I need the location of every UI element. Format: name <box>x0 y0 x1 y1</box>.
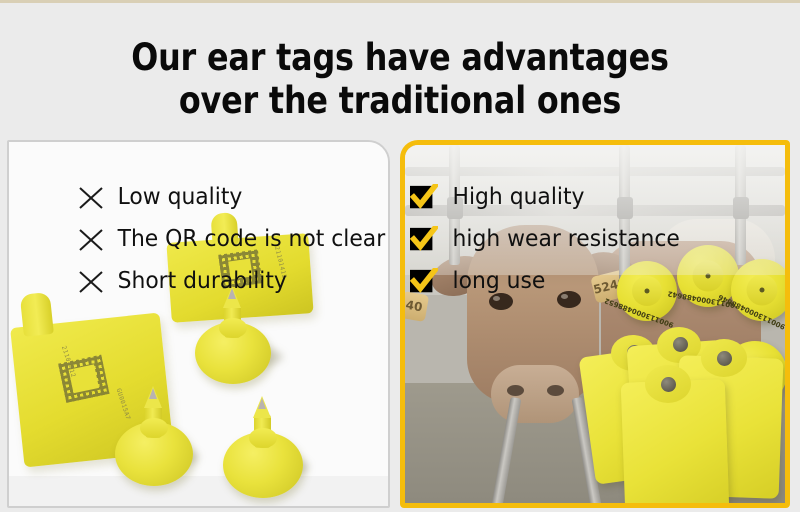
flap-stud-2 <box>673 337 688 352</box>
check-icon <box>410 184 438 212</box>
cow-muzzle <box>491 365 579 423</box>
page-title-line-1: Our ear tags have advantages <box>56 36 744 79</box>
tag-spike <box>144 386 162 408</box>
flap-stud-4 <box>661 377 676 392</box>
feature-label: Short durability <box>110 268 287 294</box>
check-icon <box>410 268 438 296</box>
our-tags-feature-list: High quality high wear resistance long u… <box>410 176 692 302</box>
cross-icon <box>78 227 104 253</box>
check-mark-wrap <box>410 182 444 212</box>
page-title: Our ear tags have advantages over the tr… <box>56 36 744 122</box>
tag-neck <box>20 292 54 337</box>
feature-label: long use <box>444 268 545 294</box>
tag-spike <box>253 396 271 418</box>
check-mark-wrap <box>410 224 444 254</box>
tag-hub <box>249 428 277 448</box>
cross-mark-wrap <box>76 266 110 296</box>
page-title-line-2: over the traditional ones <box>56 79 744 122</box>
check-mark-wrap <box>410 266 444 296</box>
cow-nostril-left <box>507 385 524 396</box>
feature-label: The QR code is not clear <box>110 226 385 252</box>
tag-hub <box>219 318 247 338</box>
feature-label: high wear resistance <box>444 226 680 252</box>
cross-mark-wrap <box>76 224 110 254</box>
top-divider-rule <box>0 0 800 3</box>
tag-hub <box>140 418 168 438</box>
photo-floor <box>9 476 388 506</box>
feature-item-long-use: long use <box>410 260 692 302</box>
feature-item-high-quality: High quality <box>410 176 692 218</box>
traditional-feature-list: Low quality The QR code is not clear Sho… <box>76 176 400 302</box>
promo-banner: Our ear tags have advantages over the tr… <box>0 0 800 526</box>
feature-label: High quality <box>444 184 584 210</box>
feature-item-short-durability: Short durability <box>76 260 400 302</box>
flap-stud-3 <box>717 351 732 366</box>
cow-nostril-right <box>547 385 564 396</box>
feature-item-low-quality: Low quality <box>76 176 400 218</box>
check-icon <box>410 226 438 254</box>
feature-item-wear-resistance: high wear resistance <box>410 218 692 260</box>
cross-icon <box>78 185 104 211</box>
cross-mark-wrap <box>76 182 110 212</box>
cross-icon <box>78 269 104 295</box>
feature-item-qr-not-clear: The QR code is not clear <box>76 218 400 260</box>
feature-label: Low quality <box>110 184 242 210</box>
tag-code-b: GU0015A7 <box>115 388 132 421</box>
